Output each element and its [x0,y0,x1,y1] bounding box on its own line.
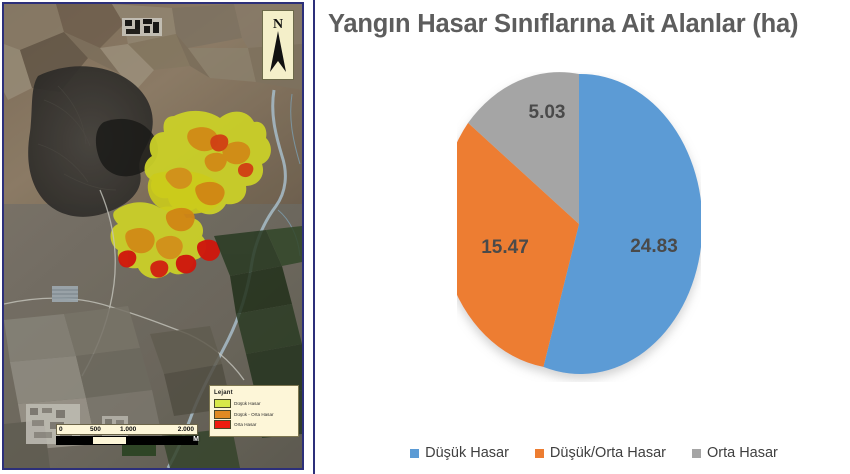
legend-item-dusuk-hasar[interactable]: Düşük Hasar [410,445,509,461]
pie-label-orta-hasar: 5.03 [529,102,566,123]
map-legend-box: Lejant Düşük Hasar Düşük - Orta Hasar Or… [209,385,299,437]
chart-legend: Düşük Hasar Düşük/Orta Hasar Orta Hasar [308,440,850,466]
scale-tick-2000: 2.000 [178,425,194,435]
map-frame: N Lejant Düşük Hasar Düşük - Orta Hasar [2,2,304,470]
legend-swatch-orta-hasar [692,449,701,458]
legend-label-dusuk-orta-hasar: Düşük/Orta Hasar [550,445,666,461]
north-arrow-label: N [273,17,283,32]
chart-panel: Yangın Hasar Sınıflarına Ait Alanlar (ha… [308,0,850,474]
legend-swatch-dusuk-orta-hasar [535,449,544,458]
legend-label-dusuk-hasar: Düşük Hasar [425,445,509,461]
pie-label-dusuk-hasar: 24.83 [630,236,678,257]
legend-item-dusuk-orta-hasar[interactable]: Düşük/Orta Hasar [535,445,666,461]
scale-tick-500: 500 [90,425,101,435]
panel-divider [313,0,315,474]
legend-swatch-dusuk-hasar [410,449,419,458]
scale-bar-unit: M [193,436,199,443]
scale-tick-1000: 1.000 [120,425,136,435]
map-legend-title: Lejant [214,389,294,397]
map-legend-swatch-medium [214,420,231,429]
map-legend-item-dusuk-hasar: Düşük Hasar [214,399,294,408]
scale-bar-numbers: 0 500 1.000 2.000 [56,424,198,435]
pie-chart: 24.83 15.47 5.03 [457,72,701,382]
screenshot-root: N Lejant Düşük Hasar Düşük - Orta Hasar [0,0,850,474]
scale-bar-ticks [56,436,198,445]
chart-title: Yangın Hasar Sınıflarına Ait Alanlar (ha… [328,4,846,44]
map-legend-item-dusuk-orta-hasar: Düşük - Orta Hasar [214,410,294,419]
map-panel: N Lejant Düşük Hasar Düşük - Orta Hasar [0,0,308,474]
north-arrow: N [262,10,294,80]
legend-item-orta-hasar[interactable]: Orta Hasar [692,445,778,461]
map-legend-label-low-medium: Düşük - Orta Hasar [234,411,274,418]
map-legend-swatch-low-medium [214,410,231,419]
legend-label-orta-hasar: Orta Hasar [707,445,778,461]
pie-label-dusuk-orta-hasar: 15.47 [481,237,529,258]
map-legend-label-low: Düşük Hasar [234,400,261,407]
pie-chart-area: 24.83 15.47 5.03 [308,72,850,392]
map-legend-swatch-low [214,399,231,408]
map-legend-label-medium: Orta Hasar [234,421,256,428]
map-legend-item-orta-hasar: Orta Hasar [214,420,294,429]
map-scale-bar: 0 500 1.000 2.000 M [56,424,198,450]
scale-tick-0: 0 [59,425,63,435]
